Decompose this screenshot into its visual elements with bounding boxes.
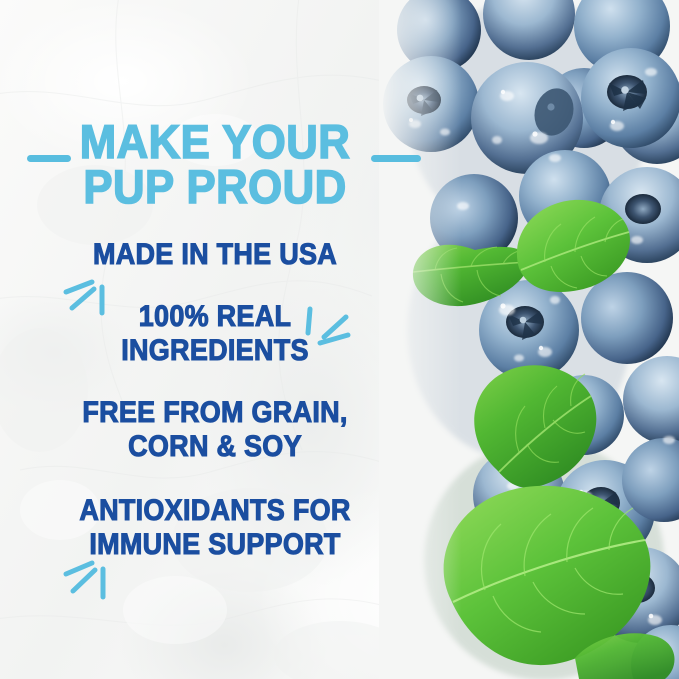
benefit-line: FREE FROM GRAIN, — [22, 396, 409, 430]
sparkle-burst-left-top-icon — [62, 278, 118, 326]
benefit-line: ANTIOXIDANTS FOR — [22, 494, 409, 528]
benefit-line: IMMUNE SUPPORT — [22, 528, 409, 562]
headline-line-2: PUP PROUD — [15, 164, 415, 209]
headline-line-1: MAKE YOUR — [15, 119, 415, 164]
benefit-free-from: FREE FROM GRAIN, CORN & SOY — [22, 396, 409, 464]
sparkle-burst-left-bottom-icon — [62, 558, 118, 610]
sparkle-burst-right-icon — [300, 303, 356, 351]
benefit-antioxidants: ANTIOXIDANTS FOR IMMUNE SUPPORT — [22, 494, 409, 562]
benefit-line: MADE IN THE USA — [22, 238, 409, 272]
benefit-line: CORN & SOY — [22, 430, 409, 464]
product-feature-banner: MAKE YOUR PUP PROUD MADE IN THE USA 100%… — [0, 0, 679, 679]
benefit-made-in-usa: MADE IN THE USA — [22, 238, 409, 272]
headline: MAKE YOUR PUP PROUD — [15, 119, 415, 209]
